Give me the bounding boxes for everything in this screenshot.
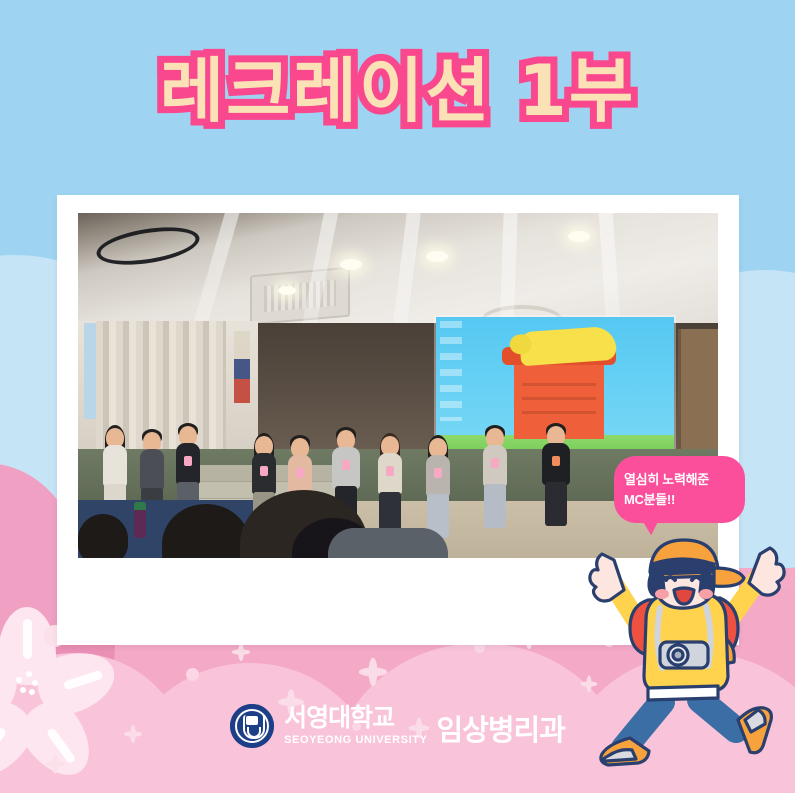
photo-spotlight bbox=[426, 251, 448, 262]
page-title: 레크레이션 1부 bbox=[160, 55, 635, 129]
bubble-line-1: 열심히 노력해준 bbox=[624, 470, 735, 490]
photo-door bbox=[678, 329, 718, 469]
photo-spotlight bbox=[278, 286, 296, 295]
sparkle-icon bbox=[359, 658, 388, 687]
sparkle-icon bbox=[232, 643, 250, 661]
photo-person bbox=[478, 428, 512, 558]
photo-person bbox=[538, 426, 574, 558]
sparkle-icon bbox=[45, 754, 65, 774]
footer: 서영대학교 SEOYEONG UNIVERSITY 임상병리과 bbox=[0, 704, 795, 748]
photo-audience-head bbox=[78, 514, 128, 558]
department-name: 임상병리과 bbox=[437, 717, 565, 746]
university-seal-icon bbox=[230, 704, 274, 748]
poster-card: 레크레이션 1부 bbox=[0, 0, 795, 793]
decor-dot bbox=[186, 668, 199, 681]
photo-bottle bbox=[134, 502, 146, 538]
university-name-en: SEOYEONG UNIVERSITY bbox=[284, 735, 427, 746]
photo-spotlight bbox=[340, 259, 362, 270]
photo-spotlight bbox=[568, 231, 590, 242]
university-name-ko: 서영대학교 bbox=[284, 706, 427, 731]
photo-audience-body bbox=[328, 528, 448, 558]
speech-bubble: 열심히 노력해준 MC분들!! bbox=[614, 456, 745, 523]
footer-text: 서영대학교 SEOYEONG UNIVERSITY 임상병리과 bbox=[284, 706, 565, 746]
photo-flag bbox=[234, 331, 250, 403]
photo-air-vent bbox=[250, 267, 350, 326]
bubble-line-2: MC분들!! bbox=[624, 490, 735, 510]
title-wrap: 레크레이션 1부 bbox=[0, 55, 795, 129]
